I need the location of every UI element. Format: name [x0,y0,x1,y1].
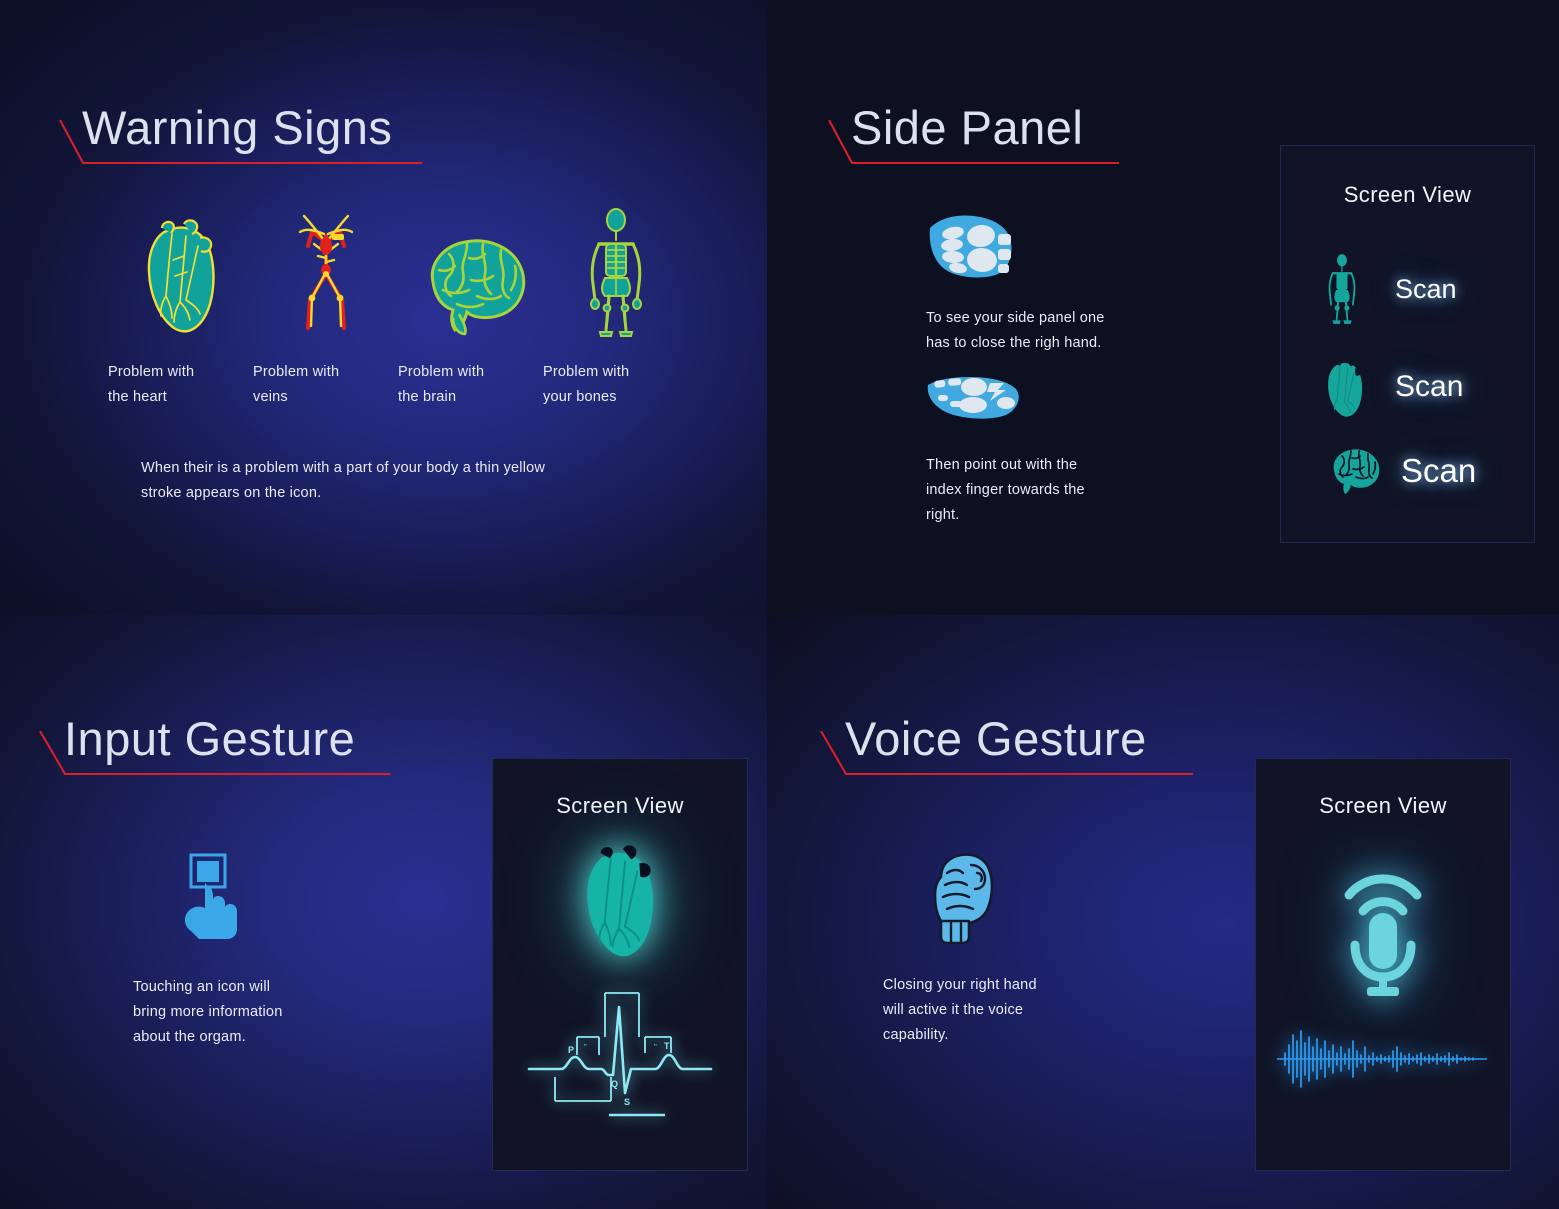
input-gesture-screen-view: Screen View [492,758,748,1171]
pointing-hand-icon [926,367,1108,423]
organ-label: Problem with veins [253,360,339,411]
organ-label-line1: Problem with [253,364,339,380]
side-panel-title-group: Side Panel [851,104,1083,151]
scan-label-heart[interactable]: Scan [1395,370,1463,404]
scan-label-brain[interactable]: Scan [1401,452,1476,490]
input-gesture-title-group: Input Gesture [64,715,355,762]
quadrant-side-panel: Side Panel [767,0,1559,615]
title-underline [82,119,442,165]
screen-view-title: Screen View [1256,793,1510,819]
organ-warning-list: Problem with the heart [108,208,688,411]
screen-view-title: Screen View [493,793,747,819]
voice-gesture-caption: Closing your right hand will active it t… [883,973,1037,1048]
ecg-label-p: P [568,1045,574,1055]
scan-row-skeleton[interactable]: Scan [1323,246,1534,332]
ecg-waveform-icon: P Q S T '' '' [493,977,747,1127]
title-underline [64,730,414,776]
ecg-label-q: Q [611,1079,618,1089]
title-underline [845,730,1215,776]
title-underline [851,119,1151,165]
caption-line1: Closing your right hand [883,977,1037,993]
heart-icon [493,843,747,955]
scan-row-heart[interactable]: Scan [1323,358,1534,416]
scan-row-brain[interactable]: Scan [1323,444,1534,498]
skeleton-icon [543,208,688,338]
voice-gesture-title-group: Voice Gesture [845,715,1147,762]
organ-label-line2: your bones [543,389,617,405]
closed-hand-icon [926,212,1108,280]
organ-item-heart[interactable]: Problem with the heart [108,208,253,411]
touch-tap-icon [169,853,282,945]
quadrant-input-gesture: Input Gesture Touching an icon will brin… [0,615,767,1209]
warning-signs-title-group: Warning Signs [82,104,392,151]
organ-item-brain[interactable]: Problem with the brain [398,208,543,411]
scan-label-skeleton[interactable]: Scan [1395,274,1457,305]
side-panel-step-1-caption: To see your side panel one has to close … [926,306,1108,356]
organ-item-veins[interactable]: Problem with veins [253,208,398,411]
skeleton-icon [1323,246,1375,332]
slide-board: Warning Signs [0,0,1559,1209]
ecg-label-s: S [624,1097,630,1107]
side-panel-screen-view: Screen View [1280,145,1535,543]
organ-label-line2: the heart [108,389,167,405]
warning-note-line1: When their is a problem with a part of y… [141,460,545,476]
organ-label: Problem with your bones [543,360,629,411]
organ-label: Problem with the heart [108,360,194,411]
organ-item-skeleton[interactable]: Problem with your bones [543,208,688,411]
screen-view-title: Screen View [1281,182,1534,208]
caption-line3: capability. [883,1027,949,1043]
organ-label-line2: the brain [398,389,456,405]
svg-text:'': '' [584,1044,587,1051]
voice-gesture-screen-view: Screen View [1255,758,1511,1171]
organ-label-line1: Problem with [543,364,629,380]
heart-icon [1323,358,1375,416]
ecg-label-t: T [664,1041,670,1051]
organ-label-line2: veins [253,389,288,405]
caption-line1: Touching an icon will [133,979,270,995]
quadrant-warning-signs: Warning Signs [0,0,767,615]
brain-icon [398,208,543,338]
warning-note-line2: stroke appears on the icon. [141,485,321,501]
caption-line3: about the orgam. [133,1029,246,1045]
input-gesture-caption: Touching an icon will bring more informa… [133,975,282,1050]
organ-label-line1: Problem with [398,364,484,380]
voice-gesture-step: Closing your right hand will active it t… [883,851,1037,1048]
warning-note: When their is a problem with a part of y… [141,456,571,506]
microphone-icon [1256,859,1510,999]
svg-text:'': '' [654,1044,657,1051]
fist-icon [923,851,1037,945]
input-gesture-step: Touching an icon will bring more informa… [133,853,282,1050]
side-panel-step-1: To see your side panel one has to close … [926,212,1108,356]
caption-line2: will active it the voice [883,1002,1023,1018]
heart-icon [108,208,253,338]
caption-line2: bring more information [133,1004,282,1020]
quadrant-voice-gesture: Voice Gesture [767,615,1559,1209]
veins-icon [253,208,398,338]
organ-label-line1: Problem with [108,364,194,380]
side-panel-step-2-caption: Then point out with the index finger tow… [926,453,1108,528]
brain-icon [1323,444,1385,498]
audio-waveform-icon [1256,1027,1510,1091]
side-panel-step-2: Then point out with the index finger tow… [926,367,1108,528]
organ-label: Problem with the brain [398,360,484,411]
